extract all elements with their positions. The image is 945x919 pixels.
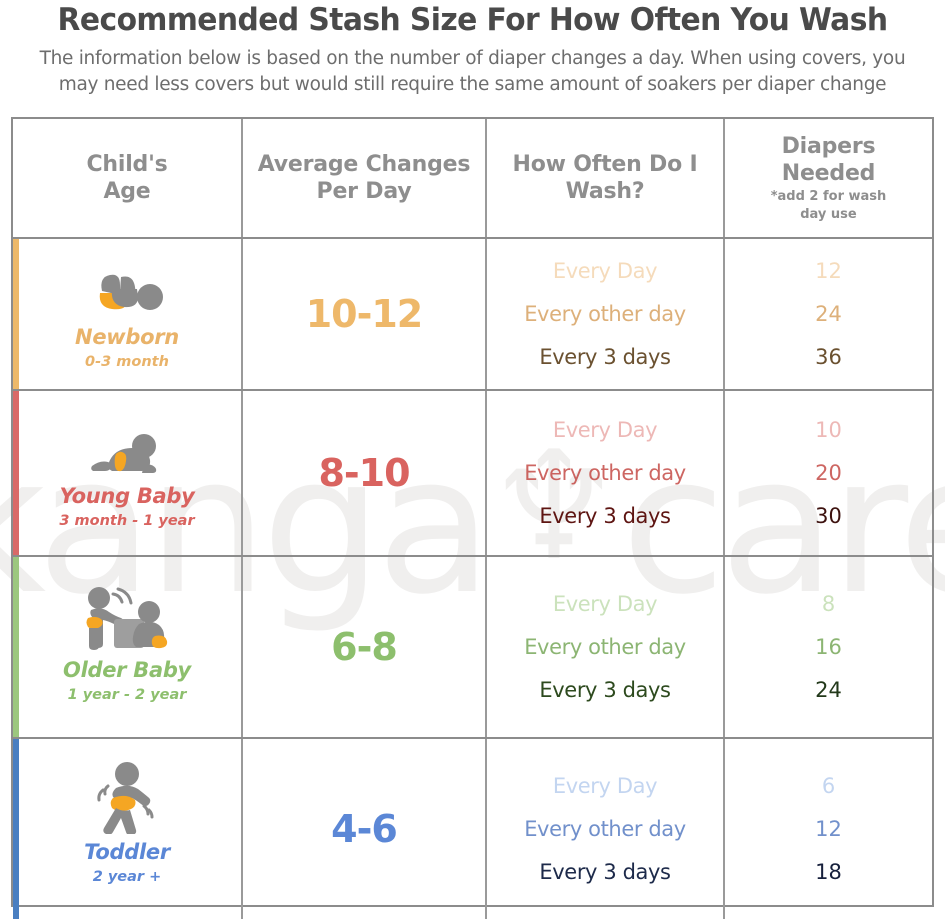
wash-frequency-cell: Every Day Every other day Every 3 days: [485, 739, 723, 919]
table-header-row: Child's Age Average Changes Per Day How …: [13, 119, 932, 237]
diapers-needed-value: 12: [815, 250, 842, 293]
wash-frequency-cell: Every Day Every other day Every 3 days: [485, 391, 723, 555]
wash-frequency-item: Every 3 days: [539, 336, 670, 379]
age-name: Young Baby: [59, 484, 194, 508]
column-header-line2: Needed: [782, 160, 875, 187]
row-accent-bar: [13, 391, 19, 555]
wash-frequency-cell: Every Day Every other day Every 3 days: [485, 557, 723, 737]
diapers-needed-value: 20: [815, 452, 842, 495]
column-header-line2: Age: [103, 178, 150, 205]
age-cell: Toddler 2 year +: [13, 739, 241, 919]
page-title: Recommended Stash Size For How Often You…: [19, 2, 926, 38]
stash-size-table: Child's Age Average Changes Per Day How …: [11, 117, 934, 907]
diapers-needed-value: 24: [815, 293, 842, 336]
average-changes-cell: 8-10: [241, 391, 485, 555]
page-subtitle: The information below is based on the nu…: [20, 46, 925, 98]
age-range: 0-3 month: [85, 352, 169, 372]
wash-frequency-item: Every Day: [553, 583, 657, 626]
row-accent-bar: [13, 557, 19, 737]
column-header-line1: Child's: [86, 151, 167, 178]
wash-frequency-item: Every 3 days: [539, 851, 670, 894]
wash-frequency-item: Every Day: [553, 765, 657, 808]
wash-frequency-item: Every other day: [524, 808, 686, 851]
diapers-needed-value: 24: [815, 669, 842, 712]
diapers-needed-value: 30: [815, 495, 842, 538]
average-changes-value: 8-10: [318, 451, 409, 495]
age-cell: Older Baby 1 year - 2 year: [13, 557, 241, 737]
diapers-needed-value: 8: [822, 583, 835, 626]
diapers-needed-cell: 6 12 18: [723, 739, 932, 919]
wash-frequency-cell: Every Day Every other day Every 3 days: [485, 239, 723, 389]
wash-frequency-item: Every Day: [553, 409, 657, 452]
column-header-child-age: Child's Age: [13, 119, 241, 237]
column-header-line2: Per Day: [317, 178, 412, 205]
column-header-diapers-needed: Diapers Needed *add 2 for wash day use: [723, 119, 932, 237]
age-name: Toddler: [84, 840, 170, 864]
table-row: Newborn 0-3 month 10-12 Every Day Every …: [13, 237, 932, 389]
column-header-how-often-wash: How Often Do I Wash?: [485, 119, 723, 237]
table-row: Toddler 2 year + 4-6 Every Day Every oth…: [13, 737, 932, 919]
wash-frequency-item: Every other day: [524, 452, 686, 495]
diapers-needed-cell: 8 16 24: [723, 557, 932, 737]
diapers-needed-cell: 12 24 36: [723, 239, 932, 389]
wash-frequency-item: Every 3 days: [539, 669, 670, 712]
older-baby-playing-icon: [77, 590, 177, 652]
infographic-page: kanga♆care Recommended Stash Size For Ho…: [0, 0, 945, 915]
age-range: 1 year - 2 year: [68, 685, 187, 705]
newborn-lying-icon: [90, 257, 164, 319]
average-changes-value: 6-8: [331, 625, 397, 669]
wash-frequency-item: Every Day: [553, 250, 657, 293]
wash-frequency-item: Every other day: [524, 293, 686, 336]
row-accent-bar: [13, 239, 19, 389]
age-name: Older Baby: [63, 658, 191, 682]
toddler-walking-icon: [94, 772, 160, 834]
average-changes-cell: 4-6: [241, 739, 485, 919]
age-range: 3 month - 1 year: [59, 511, 194, 531]
column-header-line2: Wash?: [566, 178, 645, 205]
age-cell: Newborn 0-3 month: [13, 239, 241, 389]
wash-frequency-item: Every other day: [524, 626, 686, 669]
table-row: Older Baby 1 year - 2 year 6-8 Every Day…: [13, 555, 932, 737]
young-baby-crawling-icon: [88, 416, 166, 478]
column-header-line1: How Often Do I: [513, 151, 698, 178]
age-range: 2 year +: [93, 867, 162, 887]
column-header-line1: Diapers: [782, 133, 876, 160]
age-cell: Young Baby 3 month - 1 year: [13, 391, 241, 555]
column-header-note-line1: *add 2 for wash: [771, 189, 887, 205]
diapers-needed-value: 12: [815, 808, 842, 851]
diapers-needed-value: 18: [815, 851, 842, 894]
average-changes-value: 4-6: [331, 807, 397, 851]
column-header-average-changes: Average Changes Per Day: [241, 119, 485, 237]
wash-frequency-item: Every 3 days: [539, 495, 670, 538]
average-changes-cell: 6-8: [241, 557, 485, 737]
column-header-line1: Average Changes: [258, 151, 471, 178]
diapers-needed-value: 16: [815, 626, 842, 669]
diapers-needed-cell: 10 20 30: [723, 391, 932, 555]
table-row: Young Baby 3 month - 1 year 8-10 Every D…: [13, 389, 932, 555]
column-header-note-line2: day use: [800, 207, 857, 223]
average-changes-value: 10-12: [306, 292, 423, 336]
diapers-needed-value: 10: [815, 409, 842, 452]
diapers-needed-value: 6: [822, 765, 835, 808]
diapers-needed-value: 36: [815, 336, 842, 379]
age-name: Newborn: [75, 325, 179, 349]
row-accent-bar: [13, 739, 19, 919]
average-changes-cell: 10-12: [241, 239, 485, 389]
